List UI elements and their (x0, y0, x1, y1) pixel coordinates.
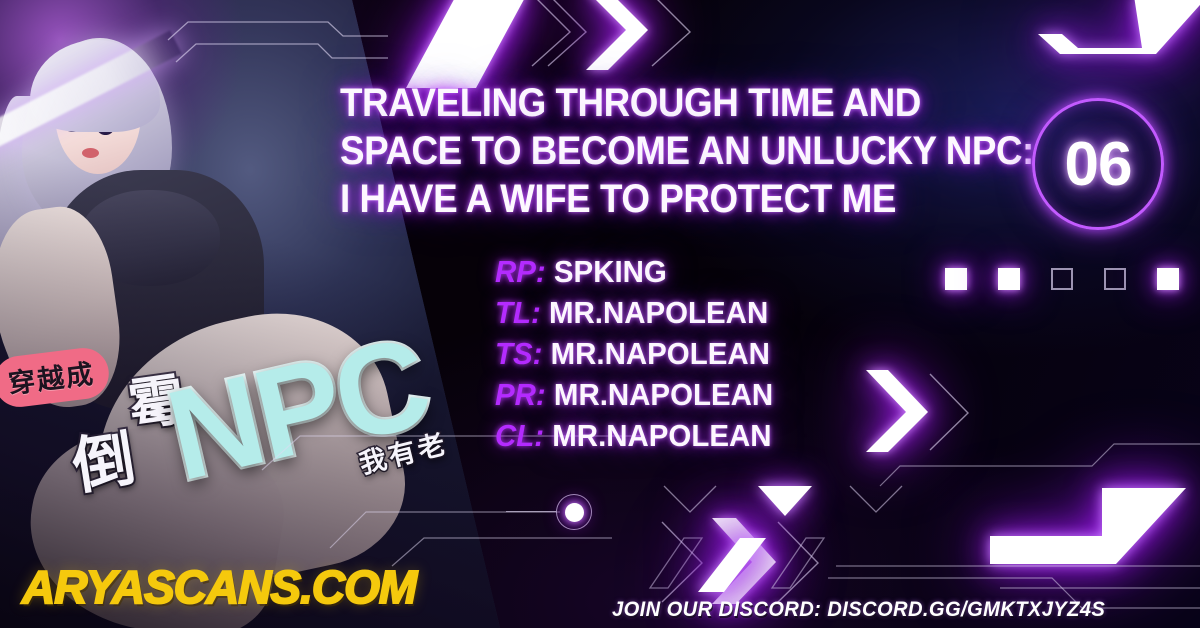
credit-name-ts: MR.NAPOLEAN (551, 336, 770, 371)
node-ring (556, 494, 592, 530)
credit-role-tl: TL: (495, 295, 541, 330)
chevron-glow-mid-right (866, 370, 936, 454)
credit-row-rp: RP: SPKING (495, 252, 773, 293)
title-line-3: I HAVE A WIFE TO PROTECT ME (340, 178, 975, 221)
title-line-2: SPACE TO BECOME AN UNLUCKY NPC: (340, 130, 975, 173)
square-indicator-1 (945, 268, 967, 290)
square-indicator-5 (1157, 268, 1179, 290)
chevron-glow-top-1 (398, 0, 538, 88)
credit-row-cl: CL: MR.NAPOLEAN (495, 416, 773, 457)
chevron-glow-top-2 (586, 0, 658, 72)
credit-row-tl: TL: MR.NAPOLEAN (495, 293, 773, 334)
credit-name-pr: MR.NAPOLEAN (554, 377, 773, 412)
credit-role-pr: PR: (495, 377, 546, 412)
square-indicator-4 (1104, 268, 1126, 290)
chevron-outline-mid-right (928, 374, 988, 452)
square-indicator-row (945, 268, 1179, 290)
triangle-row (654, 486, 944, 520)
chapter-title: TRAVELING THROUGH TIME AND SPACE TO BECO… (340, 82, 1030, 227)
diagonal-slash-row (648, 536, 838, 594)
credit-role-cl: CL: (495, 418, 544, 453)
title-line-1: TRAVELING THROUGH TIME AND (340, 82, 975, 125)
credit-role-rp: RP: (495, 254, 546, 289)
credit-name-rp: SPKING (554, 254, 667, 289)
chapter-banner: 穿越成 霉 倒 NPC 我有老 (0, 0, 1200, 628)
chevron-outline-top-2 (650, 0, 710, 68)
bent-bar-top-right (1038, 0, 1200, 72)
site-logo[interactable]: ARYASCANS.COM (22, 560, 416, 614)
bent-bar-bottom-right (990, 488, 1200, 574)
credits-list: RP: SPKING TL: MR.NAPOLEAN TS: MR.NAPOLE… (495, 252, 788, 457)
chapter-number-badge: 06 (1032, 98, 1164, 230)
node-dot (565, 503, 584, 522)
credit-row-pr: PR: MR.NAPOLEAN (495, 375, 773, 416)
square-indicator-3 (1051, 268, 1073, 290)
square-indicator-2 (998, 268, 1020, 290)
discord-invite-text[interactable]: JOIN OUR DISCORD: DISCORD.GG/GMKTXJYZ4S (612, 598, 1105, 622)
credit-name-tl: MR.NAPOLEAN (549, 295, 768, 330)
credit-row-ts: TS: MR.NAPOLEAN (495, 334, 773, 375)
node-marker (556, 494, 592, 530)
node-lead-line (506, 511, 556, 512)
chapter-number: 06 (1065, 129, 1132, 200)
credit-name-cl: MR.NAPOLEAN (552, 418, 771, 453)
tech-outline-top-left (168, 22, 388, 70)
credit-role-ts: TS: (495, 336, 542, 371)
